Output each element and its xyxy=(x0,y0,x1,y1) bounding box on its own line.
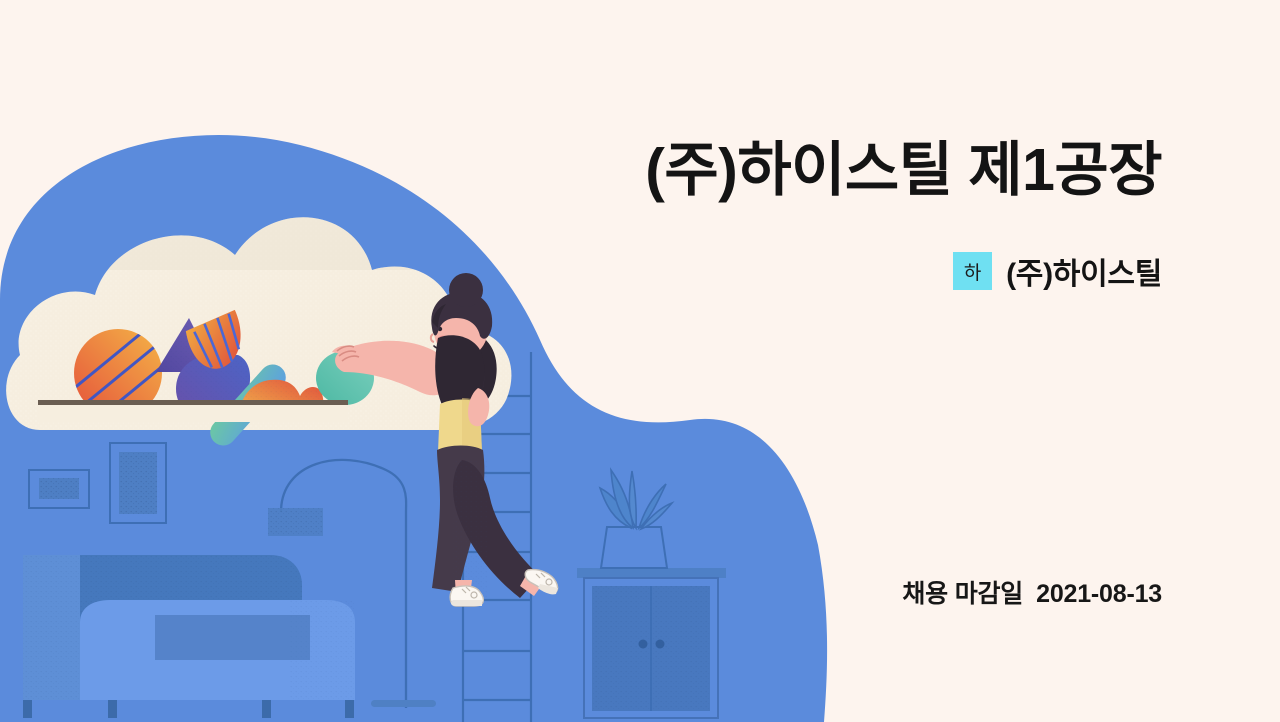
deadline-label: 채용 마감일 xyxy=(902,580,1023,608)
page-title: (주)하이스틸 제1공장 xyxy=(645,136,1162,206)
job-posting-card: (주)하이스틸 제1공장 하 (주)하이스틸 채용 마감일2021-08-13 xyxy=(0,0,1280,722)
shelf xyxy=(38,400,348,422)
deadline-value: 2021-08-13 xyxy=(1036,580,1162,608)
cabinet xyxy=(577,568,726,718)
company-row: 하 (주)하이스틸 xyxy=(953,249,1162,293)
company-logo: 하 xyxy=(953,252,992,290)
hero-illustration xyxy=(0,0,1280,722)
company-name: (주)하이스틸 xyxy=(1006,249,1162,293)
deadline-row: 채용 마감일2021-08-13 xyxy=(902,574,1162,610)
